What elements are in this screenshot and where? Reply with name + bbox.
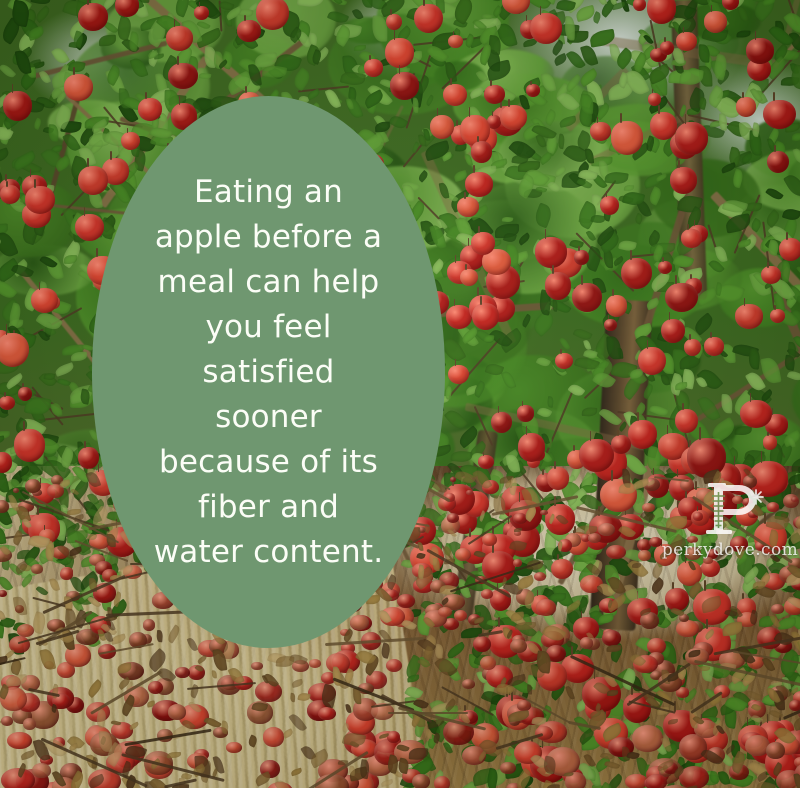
fallen-apple — [251, 662, 262, 670]
apple-on-tree — [779, 238, 800, 261]
fallen-apple — [767, 502, 780, 512]
fallen-apple — [386, 659, 402, 672]
apple-on-tree — [517, 405, 535, 421]
apple-on-tree — [166, 26, 193, 51]
apple-on-tree — [472, 303, 499, 330]
leaf — [543, 109, 558, 126]
leaf — [48, 124, 59, 142]
fallen-apple — [226, 742, 241, 753]
leaf — [792, 132, 800, 141]
ground-debris — [547, 784, 560, 788]
leaf — [731, 168, 745, 188]
fallen-apple — [676, 620, 699, 637]
fallen-apple — [602, 630, 621, 646]
fallen-apple — [632, 725, 663, 751]
apple-on-tree — [579, 439, 614, 472]
apple-on-tree — [660, 41, 674, 55]
fallen-apple — [309, 659, 321, 668]
leaf — [451, 450, 473, 463]
leaf — [261, 64, 287, 79]
apple-on-tree — [530, 13, 561, 43]
apple-on-tree — [670, 167, 698, 194]
leaf — [641, 383, 654, 399]
apple-on-tree — [681, 229, 702, 248]
leaf — [647, 186, 663, 205]
apple-on-tree — [611, 435, 631, 454]
leaf — [737, 6, 749, 23]
leaf — [679, 68, 704, 86]
fallen-apple — [143, 619, 156, 631]
fallen-apple — [536, 599, 556, 615]
fallen-apple — [606, 545, 626, 559]
apple-on-tree — [675, 409, 698, 433]
apple-on-tree — [604, 319, 617, 331]
fallen-apple — [771, 604, 784, 614]
fallen-apple — [7, 732, 32, 750]
apple-on-tree — [364, 59, 383, 77]
leaf — [56, 376, 71, 387]
fallen-apple — [1, 716, 13, 726]
leaf — [198, 72, 211, 80]
fallen-apple — [175, 667, 190, 678]
fallen-apple — [148, 681, 163, 694]
leaf — [424, 95, 435, 107]
apple-on-tree — [606, 295, 627, 317]
apple-on-tree — [545, 272, 571, 299]
leaf — [297, 0, 325, 9]
apple-on-tree — [611, 121, 644, 154]
fallen-apple — [500, 762, 515, 774]
leaf — [760, 356, 781, 385]
leaf — [0, 62, 16, 79]
leaf — [782, 207, 800, 223]
fallen-apple — [350, 615, 369, 630]
apple-on-tree — [478, 455, 494, 469]
leaf — [675, 382, 687, 390]
apple-on-tree — [763, 100, 795, 129]
quote-image: Eating an apple before a meal can help y… — [0, 0, 800, 788]
leaf — [673, 252, 695, 270]
apple-on-tree — [78, 166, 108, 195]
fallen-apple — [473, 636, 491, 652]
fallen-apple — [534, 572, 546, 581]
apple-on-tree — [14, 429, 45, 462]
fallen-apple — [263, 727, 284, 746]
leaf — [604, 170, 629, 185]
apple-on-tree — [430, 115, 454, 139]
apple-on-tree — [78, 3, 108, 31]
leaf — [796, 265, 800, 277]
leaf — [599, 406, 622, 428]
apple-on-tree — [621, 258, 652, 289]
apple-on-tree — [675, 122, 708, 155]
leaf — [747, 348, 760, 370]
apple-on-tree — [471, 232, 495, 255]
leaf — [417, 170, 429, 182]
apple-on-tree — [704, 11, 728, 33]
fallen-apple — [23, 718, 37, 730]
apple-on-tree — [64, 74, 93, 101]
leaf — [455, 144, 467, 152]
leaf — [361, 0, 373, 8]
leaf — [698, 97, 708, 110]
apple-on-tree — [736, 97, 756, 117]
fallen-apple — [60, 568, 73, 580]
ground-debris — [348, 766, 355, 776]
leaf — [502, 216, 513, 223]
ground-debris — [607, 690, 618, 697]
apple-on-tree — [194, 6, 209, 20]
apple-on-tree — [770, 309, 785, 323]
leaf — [618, 239, 637, 252]
leaf — [520, 314, 531, 328]
leaf — [792, 147, 800, 164]
leaf — [735, 426, 752, 436]
apple-on-tree — [551, 559, 573, 579]
leaf — [607, 336, 621, 359]
apple-on-tree — [572, 283, 601, 312]
quote-text: Eating an apple before a meal can help y… — [119, 170, 419, 575]
fallen-apple — [703, 557, 713, 564]
apple-on-tree — [763, 435, 778, 449]
leaf — [599, 613, 614, 623]
leaf — [129, 56, 148, 79]
apple-on-tree — [390, 72, 419, 100]
fallen-apple — [387, 731, 400, 742]
fallen-apple — [168, 704, 187, 720]
leaf — [661, 374, 671, 386]
leaf — [624, 184, 635, 191]
leaf — [645, 297, 661, 311]
leaf — [765, 186, 783, 202]
fallen-apple — [318, 707, 336, 721]
leaf — [33, 5, 52, 23]
leaf — [469, 87, 485, 99]
apple-on-tree — [31, 288, 58, 313]
leaf — [778, 617, 797, 630]
apple-on-tree — [443, 84, 466, 106]
apple-on-tree — [555, 353, 573, 369]
fallen-apple — [462, 679, 475, 689]
apple-on-tree — [638, 347, 665, 375]
leaf — [36, 584, 49, 597]
apple-on-tree — [138, 98, 162, 121]
apple-on-tree — [526, 84, 540, 97]
leaf — [0, 435, 5, 445]
leaf — [583, 339, 591, 350]
leaf — [517, 232, 532, 245]
fallen-apple — [397, 594, 415, 609]
leaf — [0, 230, 19, 260]
leaf — [354, 44, 366, 50]
leaf — [573, 327, 593, 343]
fallen-apple — [732, 496, 743, 504]
apple-on-tree — [518, 433, 545, 461]
leaf — [737, 30, 751, 38]
apple-on-tree — [471, 141, 493, 162]
leaf — [557, 89, 580, 113]
apple-on-tree — [761, 266, 780, 284]
leaf — [763, 209, 782, 229]
leaf — [99, 34, 116, 46]
leaf — [552, 299, 558, 311]
leaf — [71, 351, 87, 360]
leaf — [54, 362, 75, 376]
fallen-apple — [455, 548, 471, 561]
leaf — [372, 15, 387, 41]
leaf — [501, 369, 516, 389]
fallen-apple — [454, 610, 467, 621]
leaf — [547, 180, 561, 194]
ground-debris — [513, 528, 521, 532]
apple-on-tree — [465, 172, 493, 197]
leaf — [582, 407, 598, 418]
leaf — [565, 16, 576, 41]
apple-on-tree — [665, 283, 697, 312]
apple-on-tree — [168, 63, 198, 89]
leaf — [351, 7, 363, 21]
apple-on-tree — [385, 38, 414, 67]
fallen-apple — [540, 510, 548, 516]
leaf — [557, 133, 565, 148]
leaf — [484, 0, 503, 4]
apple-on-tree — [600, 196, 618, 215]
leaf — [0, 277, 18, 302]
apple-on-tree — [574, 250, 589, 265]
leaf — [30, 0, 50, 6]
fallen-apple — [412, 774, 429, 788]
leaf — [787, 370, 800, 383]
fallen-apple — [32, 763, 51, 778]
leaf — [64, 254, 77, 263]
fallen-apple — [31, 564, 42, 574]
tree-twig — [707, 224, 716, 247]
quote-oval-card: Eating an apple before a meal can help y… — [92, 96, 445, 648]
fallen-apple — [510, 639, 527, 653]
apple-on-tree — [386, 14, 402, 31]
fallen-apple — [434, 776, 450, 788]
apple-on-tree — [78, 447, 100, 469]
leaf — [547, 396, 554, 408]
leaf — [0, 147, 11, 163]
fallen-apple — [766, 742, 785, 758]
apple-on-tree — [746, 38, 774, 64]
leaf — [33, 118, 43, 131]
leaf — [473, 381, 488, 398]
fallen-apple — [638, 550, 651, 562]
leaf — [585, 230, 595, 243]
leaf — [532, 202, 554, 228]
leaf — [536, 355, 551, 368]
fallen-apple — [466, 490, 474, 495]
leaf — [783, 171, 800, 199]
apple-on-tree — [256, 0, 289, 30]
apple-on-tree — [237, 20, 261, 41]
fallen-apple — [646, 774, 668, 788]
